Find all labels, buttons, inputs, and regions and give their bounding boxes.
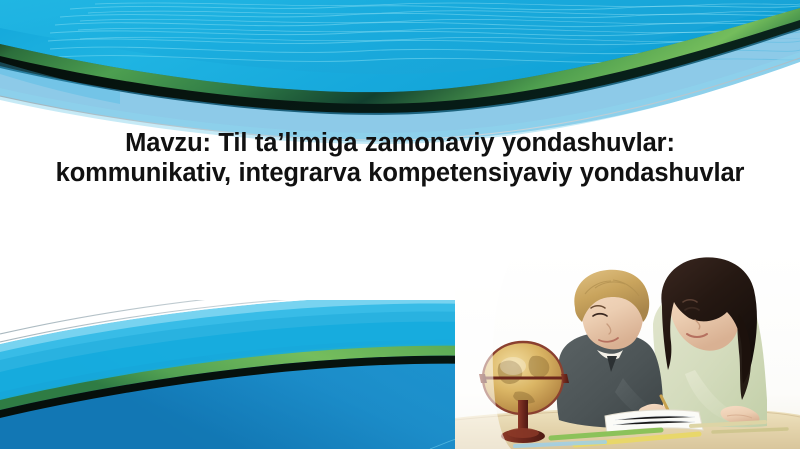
top-wave-green-accent (0, 8, 800, 106)
slide-title: Mavzu: Til ta’limiga zamonaviy yondashuv… (40, 128, 760, 188)
edge-accents (0, 62, 120, 104)
woman-figure (653, 257, 767, 427)
top-wave-cyan-highlight (0, 0, 800, 74)
top-wave-blue-wash (0, 28, 800, 142)
top-wave-cyan-layer (0, 0, 800, 92)
top-wave-black-accent (0, 20, 800, 115)
classroom-photo (455, 250, 800, 449)
top-wave-line-texture-2 (78, 3, 800, 42)
title-block: Mavzu: Til ta’limiga zamonaviy yondashuv… (40, 128, 760, 188)
slide-canvas: Mavzu: Til ta’limiga zamonaviy yondashuv… (0, 0, 800, 449)
globe-highlight (500, 357, 526, 375)
classroom-photo-illustration (455, 250, 800, 449)
top-wave-line-texture (48, 6, 800, 63)
globe-base-top (507, 428, 539, 438)
top-wave-blue-layer (0, 0, 800, 106)
